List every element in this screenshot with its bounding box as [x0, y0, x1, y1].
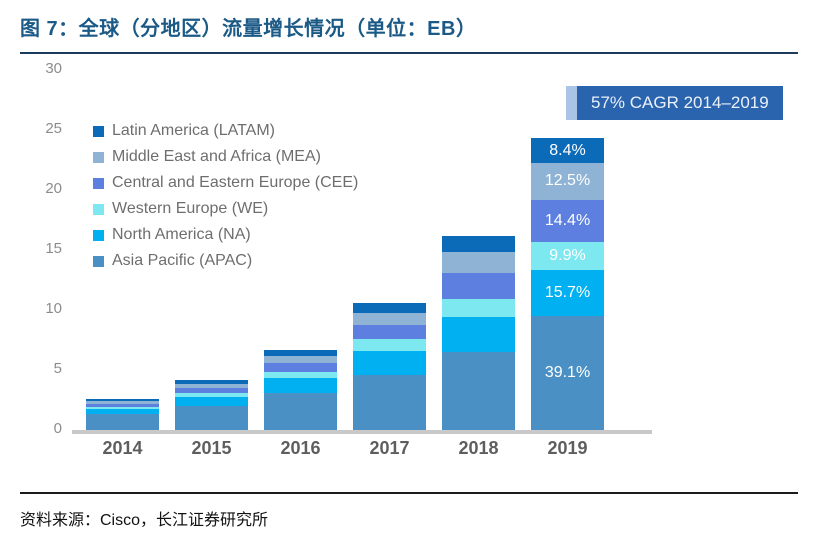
bar-segment-apac-2016[interactable] — [264, 393, 337, 430]
x-axis-tick-2017: 2017 — [353, 438, 426, 459]
y-axis-tick-0: 0 — [22, 420, 62, 437]
bar-segment-latam-2017[interactable] — [353, 303, 426, 313]
y-axis-tick-30: 30 — [22, 60, 62, 77]
stacked-bar[interactable] — [353, 303, 426, 430]
bar-segment-cee-2019[interactable]: 14.4% — [531, 200, 604, 242]
bar-group-2018 — [442, 236, 515, 430]
legend-swatch-icon — [93, 230, 104, 241]
footer-divider — [20, 492, 798, 494]
page-title: 图 7：全球（分地区）流量增长情况（单位：EB） — [20, 12, 476, 41]
bar-segment-na-2015[interactable] — [175, 397, 248, 406]
segment-value-label: 8.4% — [531, 143, 604, 159]
legend-item-label: Western Europe (WE) — [112, 200, 268, 218]
legend-item-cee[interactable]: Central and Eastern Europe (CEE) — [93, 170, 358, 196]
legend-item-label: Asia Pacific (APAC) — [112, 252, 252, 270]
legend-swatch-icon — [93, 126, 104, 137]
legend-item-latam[interactable]: Latin America (LATAM) — [93, 118, 358, 144]
bar-segment-we-2017[interactable] — [353, 339, 426, 350]
bar-segment-na-2019[interactable]: 15.7% — [531, 270, 604, 316]
badge-label: 57% CAGR 2014–2019 — [591, 93, 769, 113]
x-axis-tick-2014: 2014 — [86, 438, 159, 459]
legend-item-apac[interactable]: Asia Pacific (APAC) — [93, 248, 358, 274]
bar-segment-latam-2019[interactable]: 8.4% — [531, 138, 604, 163]
segment-value-label: 39.1% — [531, 365, 604, 381]
y-axis-tick-10: 10 — [22, 300, 62, 317]
bar-group-2016 — [264, 350, 337, 430]
legend-item-mea[interactable]: Middle East and Africa (MEA) — [93, 144, 358, 170]
bar-segment-we-2016[interactable] — [264, 372, 337, 379]
legend-item-we[interactable]: Western Europe (WE) — [93, 196, 358, 222]
cagr-annotation-badge: 57% CAGR 2014–2019 — [566, 86, 783, 120]
legend-item-label: Central and Eastern Europe (CEE) — [112, 174, 358, 192]
segment-value-label: 9.9% — [531, 248, 604, 264]
bar-segment-apac-2017[interactable] — [353, 375, 426, 430]
x-axis-tick-2016: 2016 — [264, 438, 337, 459]
segment-value-label: 12.5% — [531, 173, 604, 189]
stacked-bar[interactable] — [442, 236, 515, 430]
y-axis-tick-15: 15 — [22, 240, 62, 257]
bar-segment-na-2017[interactable] — [353, 351, 426, 375]
segment-value-label: 15.7% — [531, 285, 604, 301]
legend-item-label: North America (NA) — [112, 226, 251, 244]
y-axis-tick-20: 20 — [22, 180, 62, 197]
bar-segment-apac-2019[interactable]: 39.1% — [531, 316, 604, 430]
chart-legend: Latin America (LATAM)Middle East and Afr… — [93, 118, 358, 274]
bar-segment-latam-2016[interactable] — [264, 350, 337, 357]
x-axis-baseline — [72, 430, 652, 434]
bar-segment-mea-2019[interactable]: 12.5% — [531, 163, 604, 200]
bar-segment-we-2018[interactable] — [442, 299, 515, 318]
bar-group-2015 — [175, 380, 248, 430]
badge-accent-bar — [566, 86, 577, 120]
bar-segment-cee-2018[interactable] — [442, 273, 515, 298]
y-axis-tick-5: 5 — [22, 360, 62, 377]
stacked-bar[interactable] — [264, 350, 337, 430]
stacked-bar[interactable] — [175, 380, 248, 430]
legend-swatch-icon — [93, 178, 104, 189]
bar-segment-mea-2016[interactable] — [264, 356, 337, 363]
title-divider — [20, 52, 798, 54]
chart-container: 051015202530 8.4%12.5%14.4%9.9%15.7%39.1… — [0, 60, 818, 485]
legend-swatch-icon — [93, 152, 104, 163]
bar-segment-na-2016[interactable] — [264, 378, 337, 392]
bar-segment-we-2019[interactable]: 9.9% — [531, 242, 604, 271]
source-note: 资料来源：Cisco，长江证券研究所 — [20, 506, 268, 530]
legend-swatch-icon — [93, 204, 104, 215]
y-axis-tick-25: 25 — [22, 120, 62, 137]
bar-group-2019: 8.4%12.5%14.4%9.9%15.7%39.1% — [531, 138, 604, 430]
legend-item-na[interactable]: North America (NA) — [93, 222, 358, 248]
bar-segment-na-2018[interactable] — [442, 317, 515, 352]
bar-segment-apac-2014[interactable] — [86, 414, 159, 430]
stacked-bar[interactable]: 8.4%12.5%14.4%9.9%15.7%39.1% — [531, 138, 604, 430]
x-axis-tick-2015: 2015 — [175, 438, 248, 459]
x-axis-tick-2018: 2018 — [442, 438, 515, 459]
bar-group-2017 — [353, 303, 426, 430]
bar-segment-mea-2018[interactable] — [442, 252, 515, 274]
bar-segment-cee-2017[interactable] — [353, 325, 426, 339]
bar-segment-apac-2015[interactable] — [175, 406, 248, 430]
bar-segment-apac-2018[interactable] — [442, 352, 515, 430]
stacked-bar[interactable] — [86, 399, 159, 430]
bar-segment-mea-2017[interactable] — [353, 313, 426, 325]
badge-body: 57% CAGR 2014–2019 — [577, 86, 783, 120]
legend-item-label: Latin America (LATAM) — [112, 122, 275, 140]
bar-segment-latam-2018[interactable] — [442, 236, 515, 252]
x-axis-tick-2019: 2019 — [531, 438, 604, 459]
segment-value-label: 14.4% — [531, 213, 604, 229]
bar-group-2014 — [86, 399, 159, 430]
bar-segment-cee-2016[interactable] — [264, 363, 337, 371]
legend-swatch-icon — [93, 256, 104, 267]
legend-item-label: Middle East and Africa (MEA) — [112, 148, 321, 166]
